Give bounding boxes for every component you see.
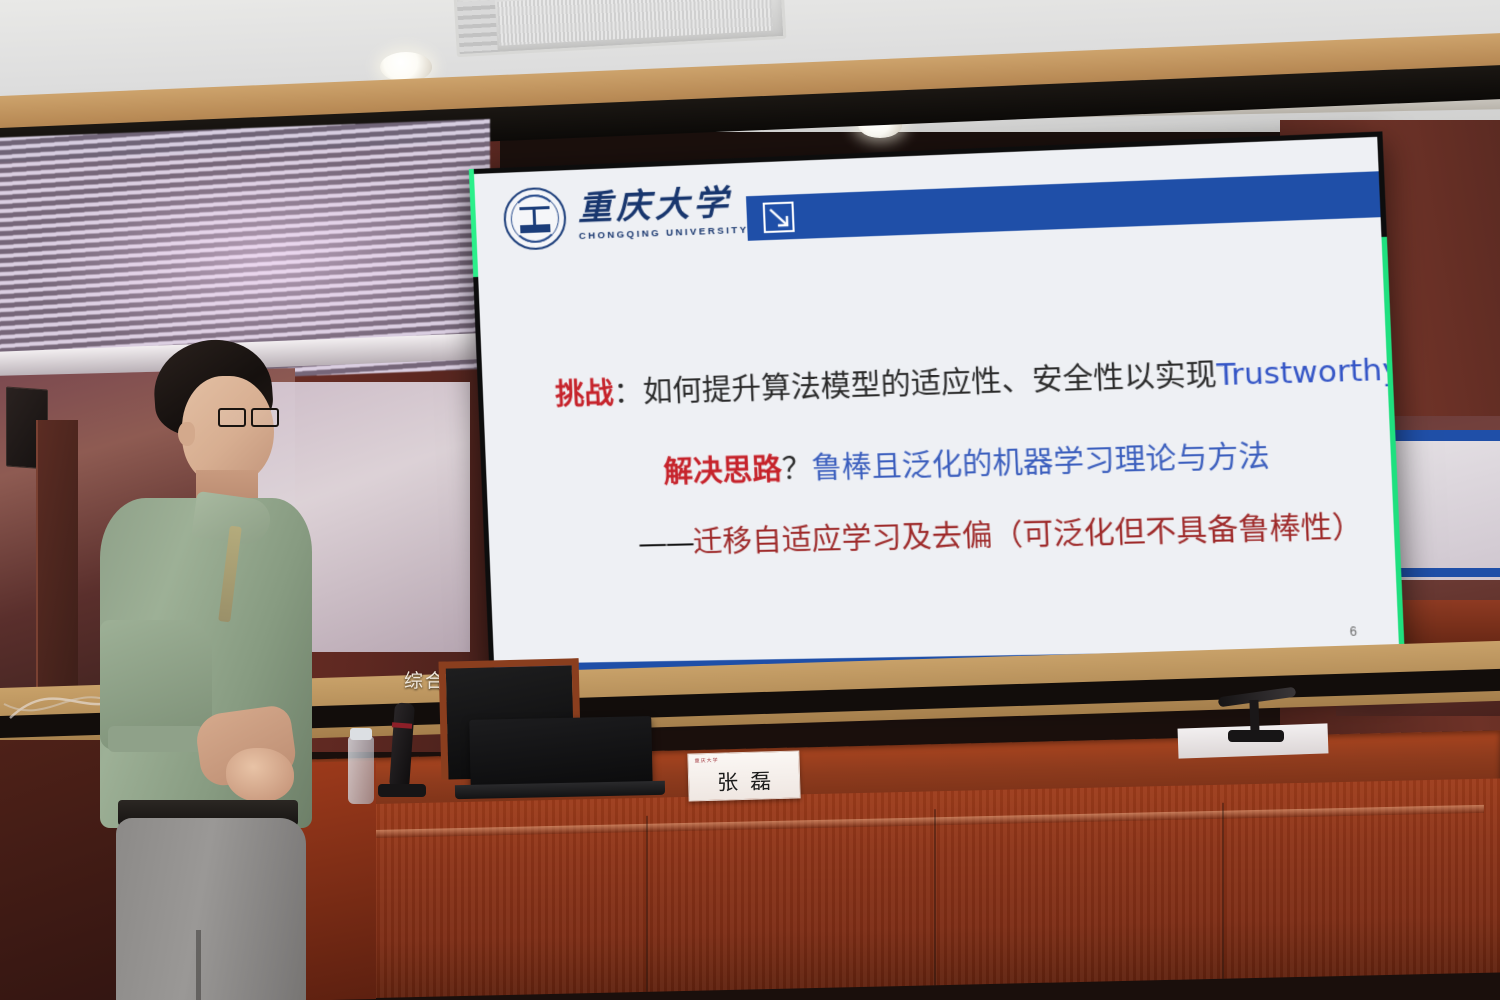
seal-emblem bbox=[519, 206, 550, 233]
university-seal-icon bbox=[503, 186, 568, 251]
presenter-sleeve-cuff bbox=[108, 726, 204, 752]
table-microphone-post bbox=[1249, 700, 1259, 734]
presenter-table-front bbox=[286, 778, 1500, 1000]
placard-org: 重庆大学 bbox=[694, 757, 718, 765]
presenter-figure bbox=[78, 330, 338, 1000]
table-panel-seam bbox=[934, 809, 936, 985]
name-placard: 重庆大学 张磊 bbox=[687, 750, 800, 801]
presenter-trousers bbox=[116, 818, 306, 1000]
slide-content: 重庆大学 CHONGQING UNIVERSITY 挑战：如何提升算法模型 bbox=[474, 137, 1400, 694]
presenter-ear bbox=[178, 422, 195, 446]
presenter-hands bbox=[226, 748, 294, 802]
water-bottle-cap[interactable] bbox=[350, 728, 372, 740]
university-name-cn: 重庆大学 bbox=[577, 185, 748, 226]
approach-dash: —— bbox=[637, 525, 693, 561]
ac-vent-side bbox=[457, 0, 498, 54]
presenter-glasses-icon bbox=[218, 408, 280, 428]
approach-body: 迁移自适应学习及去偏（可泛化但不具备鲁棒性） bbox=[692, 509, 1364, 559]
diagonal-arrow-icon bbox=[763, 202, 795, 234]
presentation-photo-scene: 重庆大学 CHONGQING UNIVERSITY 挑战：如何提升算法模型 bbox=[0, 0, 1500, 1000]
challenge-label: 挑战 bbox=[554, 376, 614, 412]
laptop-screen[interactable] bbox=[469, 716, 652, 790]
challenge-body: 如何提升算法模型的适应性、安全性以实现 bbox=[642, 357, 1217, 409]
table-microphone-base bbox=[1228, 730, 1284, 742]
solution-label: 解决思路 bbox=[663, 452, 783, 490]
slide-line-challenge: 挑战：如何提升算法模型的适应性、安全性以实现Trustworthy AI? bbox=[554, 343, 1400, 413]
table-panel-seam bbox=[1222, 803, 1224, 979]
solution-body: 鲁棒且泛化的机器学习理论与方法 bbox=[811, 439, 1270, 486]
challenge-emphasis: Trustworthy AI? bbox=[1216, 350, 1400, 393]
placard-name: 张磊 bbox=[689, 764, 800, 797]
solution-separator: ？ bbox=[781, 451, 812, 486]
ac-vent-grille bbox=[497, 0, 773, 46]
university-logo: 重庆大学 CHONGQING UNIVERSITY bbox=[503, 179, 750, 251]
slide-page-number: 6 bbox=[1349, 624, 1357, 639]
slide-line-approach: ——迁移自适应学习及去偏（可泛化但不具备鲁棒性） bbox=[637, 503, 1364, 563]
glasses-lens-left bbox=[218, 408, 246, 427]
table-panel-seam bbox=[646, 816, 648, 992]
water-bottle[interactable] bbox=[348, 736, 374, 804]
glasses-lens-right bbox=[251, 408, 279, 427]
presenter-trouser-seam bbox=[196, 930, 201, 1000]
university-name-block: 重庆大学 CHONGQING UNIVERSITY bbox=[577, 185, 749, 242]
slide-line-solution: 解决思路？鲁棒且泛化的机器学习理论与方法 bbox=[663, 432, 1271, 491]
projection-screen[interactable]: 重庆大学 CHONGQING UNIVERSITY 挑战：如何提升算法模型 bbox=[474, 137, 1400, 694]
challenge-separator: ： bbox=[613, 375, 644, 410]
header-accent-bar bbox=[746, 171, 1383, 241]
slide-body: 挑战：如何提升算法模型的适应性、安全性以实现Trustworthy AI? 解决… bbox=[478, 245, 1398, 654]
presenter-face bbox=[182, 376, 274, 484]
diagonal-arrow-glyph bbox=[767, 206, 793, 231]
microphone-base bbox=[378, 784, 426, 797]
reflection-blue-bar bbox=[1378, 430, 1500, 441]
